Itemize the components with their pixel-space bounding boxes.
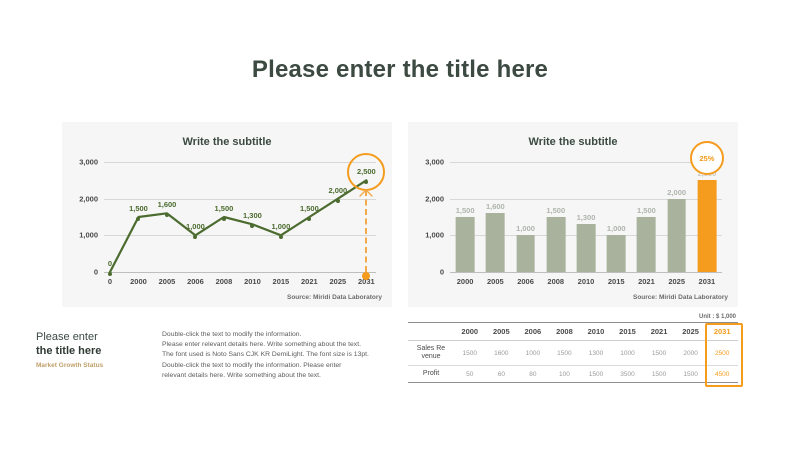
table-cell: 4500: [706, 366, 738, 383]
highlight-circle: [347, 153, 385, 191]
body-copy-line: The font used is Noto Sans CJK KR DemiLi…: [162, 350, 394, 360]
line-chart-subtitle: Write the subtitle: [62, 136, 392, 148]
growth-badge: 25%: [690, 141, 724, 175]
gridline: [450, 162, 722, 163]
bar: [516, 235, 535, 272]
bar: [607, 235, 626, 272]
table-cell: 1500: [454, 341, 486, 366]
y-axis-tick-label: 3,000: [79, 158, 98, 167]
bar: [546, 217, 565, 272]
line-data-point: [108, 272, 112, 276]
table-corner-cell: [408, 323, 454, 341]
table-cell: 1500: [643, 341, 675, 366]
body-copy-line: Double-click the text to modify the info…: [162, 330, 394, 340]
line-chart-plot-area: 01,0002,0003,000020002005200620082010201…: [104, 162, 376, 272]
table-column-header: 2015: [612, 323, 644, 341]
table-column-header: 2008: [549, 323, 581, 341]
table-cell: 3500: [612, 366, 644, 383]
x-axis-tick-label: 2006: [187, 277, 204, 286]
bar: [577, 224, 596, 272]
table-column-header: 2031: [706, 323, 738, 341]
table-cell: 1500: [675, 366, 707, 383]
table-cell: 1500: [643, 366, 675, 383]
table-cell: 60: [486, 366, 518, 383]
bar: [667, 199, 686, 272]
bar-data-label: 1,000: [607, 224, 626, 233]
x-axis-tick-label: 2005: [159, 277, 176, 286]
table-column-header: 2010: [580, 323, 612, 341]
x-axis-tick-label: 2031: [699, 277, 716, 286]
y-axis-tick-label: 1,000: [79, 231, 98, 240]
table-column-header: 2025: [675, 323, 707, 341]
bar-data-label: 1,300: [577, 213, 596, 222]
x-axis-tick-label: 0: [108, 277, 112, 286]
line-data-label: 1,000: [186, 222, 205, 231]
body-copy-line: relevant details here. Write something a…: [162, 371, 394, 381]
bar-data-label: 1,500: [546, 206, 565, 215]
table-cell: 100: [549, 366, 581, 383]
table-row: Profit50608010015003500150015004500: [408, 366, 738, 383]
line-data-label: 1,500: [300, 204, 319, 213]
table-cell: 80: [517, 366, 549, 383]
line-data-point: [136, 217, 140, 221]
bar: [637, 217, 656, 272]
y-axis-tick-label: 2,000: [425, 194, 444, 203]
table-cell: 2500: [706, 341, 738, 366]
body-copy-block: Double-click the text to modify the info…: [162, 330, 394, 381]
table-column-header: 2005: [486, 323, 518, 341]
table-cell: 1000: [612, 341, 644, 366]
table-cell: 1500: [549, 341, 581, 366]
lead-title-line2: the title here: [36, 344, 156, 358]
table-column-header: 2000: [454, 323, 486, 341]
line-data-point: [336, 199, 340, 203]
line-series-path: [104, 162, 376, 272]
highlight-dashed-connector: [365, 190, 367, 272]
y-axis-tick-label: 0: [440, 268, 444, 277]
x-axis-tick-label: 2025: [668, 277, 685, 286]
y-axis-tick-label: 0: [94, 268, 98, 277]
table-header-row: 200020052006200820102015202120252031: [408, 323, 738, 341]
y-axis-tick-label: 2,000: [79, 194, 98, 203]
bar-data-label: 1,600: [486, 202, 505, 211]
page-title: Please enter the title here: [0, 56, 800, 84]
line-data-point: [222, 217, 226, 221]
line-data-label: 1,000: [271, 222, 290, 231]
line-data-label: 0: [108, 259, 112, 268]
bar-data-label: 1,500: [456, 206, 475, 215]
line-data-point: [193, 235, 197, 239]
x-axis-tick-label: 2000: [130, 277, 147, 286]
x-axis-tick-label: 2025: [330, 277, 347, 286]
bar-highlighted: [698, 180, 717, 272]
line-data-point: [307, 217, 311, 221]
table-body: Sales Re venue15001600100015001300100015…: [408, 341, 738, 383]
line-data-label: 2,000: [328, 186, 347, 195]
highlight-arrow-icon: [359, 189, 373, 197]
line-data-label: 1,300: [243, 211, 262, 220]
line-chart-source: Source: Miridi Data Laboratory: [287, 294, 382, 301]
body-copy-line: Please enter relevant details here. Writ…: [162, 340, 394, 350]
x-axis-tick-label: 2010: [578, 277, 595, 286]
bar-chart-source: Source: Miridi Data Laboratory: [633, 294, 728, 301]
bar: [486, 213, 505, 272]
x-axis-tick-label: 2010: [244, 277, 261, 286]
x-axis-tick-label: 2021: [638, 277, 655, 286]
x-axis-tick-label: 2008: [547, 277, 564, 286]
x-axis-tick-label: 2021: [301, 277, 318, 286]
highlight-axis-dot: [362, 272, 370, 280]
gridline: [104, 272, 376, 273]
table-cell: 50: [454, 366, 486, 383]
bar-chart-card: Write the subtitle 01,0002,0003,00020002…: [408, 122, 738, 307]
table-cell: 1300: [580, 341, 612, 366]
bar-chart-plot-area: 01,0002,0003,000200020052006200820102015…: [450, 162, 722, 272]
x-axis-tick-label: 2008: [216, 277, 233, 286]
x-axis-tick-label: 2005: [487, 277, 504, 286]
lead-title-line1: Please enter: [36, 330, 156, 344]
body-copy-line: Double-click the text to modify the info…: [162, 361, 394, 371]
x-axis-tick-label: 2006: [517, 277, 534, 286]
bar-data-label: 1,000: [516, 224, 535, 233]
line-data-label: 1,500: [215, 204, 234, 213]
table-cell: 1500: [580, 366, 612, 383]
bar-data-label: 1,500: [637, 206, 656, 215]
bar: [456, 217, 475, 272]
table-cell: 1600: [486, 341, 518, 366]
x-axis-tick-label: 2000: [457, 277, 474, 286]
table-head: 200020052006200820102015202120252031: [408, 323, 738, 341]
table-column-header: 2021: [643, 323, 675, 341]
table-row-header: Profit: [408, 366, 454, 383]
table-unit-label: Unit : $ 1,000: [408, 314, 738, 320]
gridline: [450, 272, 722, 273]
line-data-point: [279, 235, 283, 239]
lead-subtitle: Market Growth Status: [36, 362, 156, 369]
data-table-block: Unit : $ 1,000 2000200520062008201020152…: [408, 314, 738, 383]
bar-chart-subtitle: Write the subtitle: [408, 136, 738, 148]
table-cell: 1000: [517, 341, 549, 366]
x-axis-tick-label: 2015: [273, 277, 290, 286]
table-row: Sales Re venue15001600100015001300100015…: [408, 341, 738, 366]
table-column-header: 2006: [517, 323, 549, 341]
y-axis-tick-label: 1,000: [425, 231, 444, 240]
table-row-header: Sales Re venue: [408, 341, 454, 366]
slide-canvas: Please enter the title here Write the su…: [0, 0, 800, 450]
data-table: 200020052006200820102015202120252031 Sal…: [408, 322, 738, 383]
line-data-label: 1,500: [129, 204, 148, 213]
line-data-point: [165, 213, 169, 217]
line-data-label: 1,600: [158, 200, 177, 209]
line-data-point: [250, 224, 254, 228]
y-axis-tick-label: 3,000: [425, 158, 444, 167]
table-cell: 2000: [675, 341, 707, 366]
line-chart-card: Write the subtitle 01,0002,0003,00002000…: [62, 122, 392, 307]
x-axis-tick-label: 2015: [608, 277, 625, 286]
bar-data-label: 2,000: [667, 188, 686, 197]
lead-text-block: Please enter the title here Market Growt…: [36, 330, 156, 369]
